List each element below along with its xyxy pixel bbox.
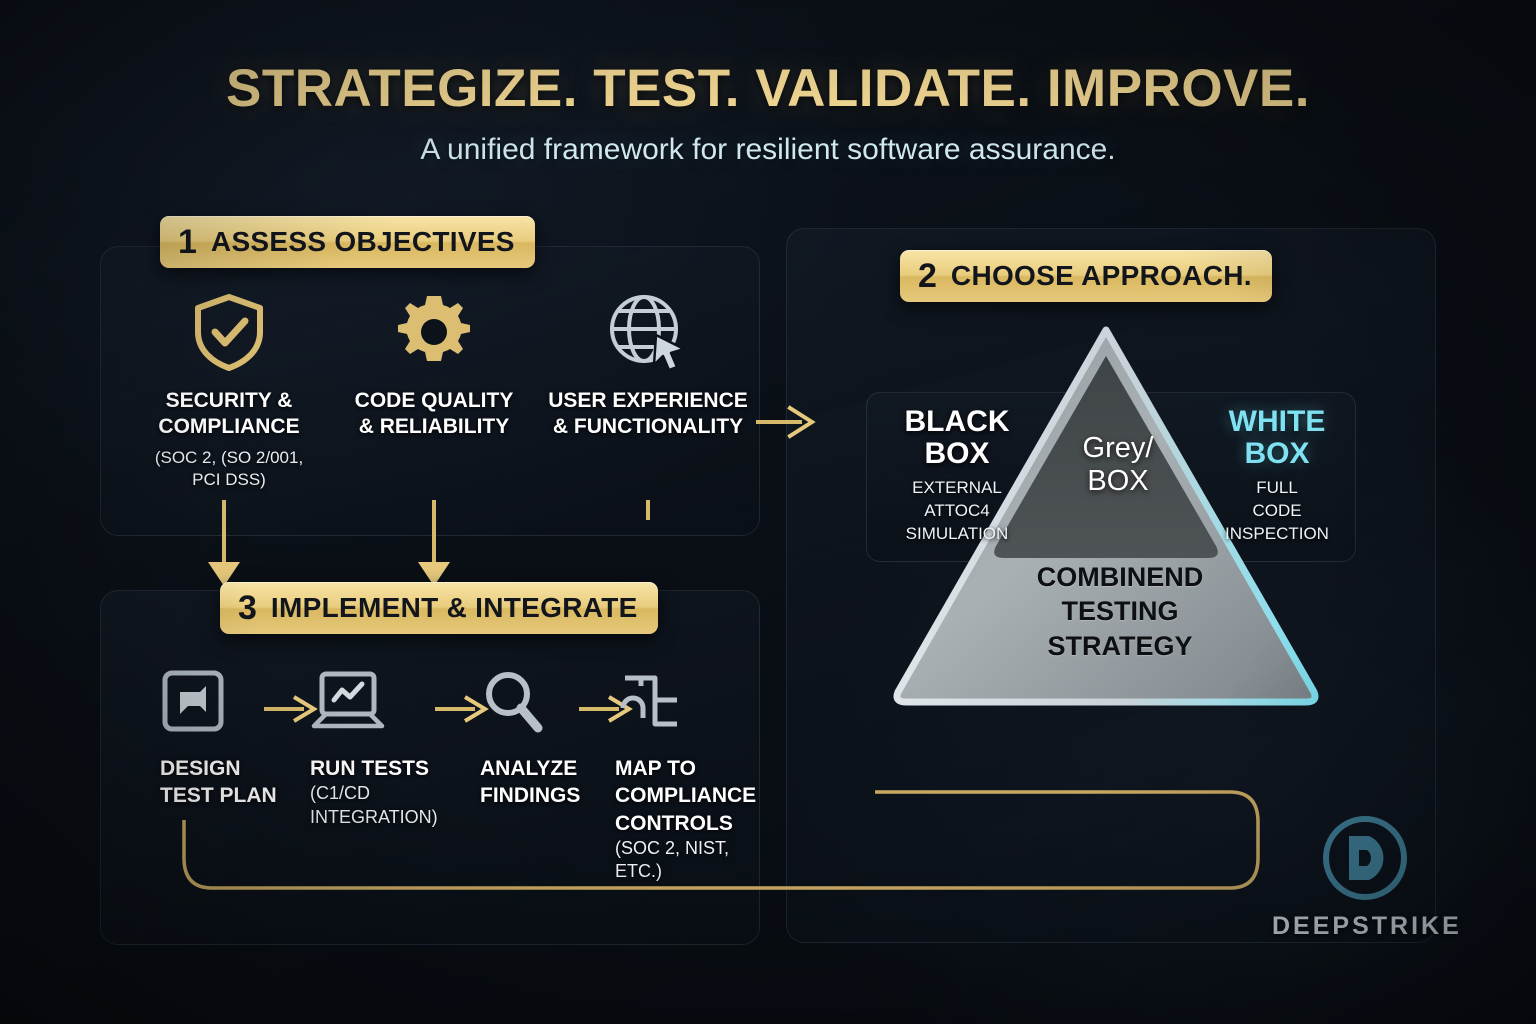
step-badge-implement[interactable]: 3 IMPLEMENT & INTEGRATE — [220, 582, 658, 634]
page-subtitle: A unified framework for resilient softwa… — [0, 133, 1536, 167]
deepstrike-d-icon — [1272, 812, 1457, 904]
magnifier-icon — [480, 665, 580, 737]
objective-name: USER EXPERIENCE& FUNCTIONALITY — [543, 388, 753, 441]
objective-code-quality[interactable]: CODE QUALITY& RELIABILITY — [329, 290, 539, 447]
step-badge-approach[interactable]: 2 CHOOSE APPROACH. — [900, 250, 1272, 302]
flow-step-design-test-plan[interactable]: DESIGNTEST PLAN — [160, 665, 277, 810]
black-box-heading: BLACKBOX — [882, 406, 1032, 471]
flow-step-analyze-findings[interactable]: ANALYZEFINDINGS — [480, 665, 580, 810]
black-box-label: BLACKBOX EXTERNALATTOC4SIMULATION — [882, 406, 1032, 546]
design-plan-icon — [160, 665, 277, 737]
page-title: STRATEGIZE. TEST. VALIDATE. IMPROVE. — [0, 58, 1536, 119]
gear-icon — [329, 290, 539, 374]
objective-security-compliance[interactable]: SECURITY &COMPLIANCE (SOC 2, (SO 2/001,P… — [124, 290, 334, 491]
grey-box-label: Grey/BOX — [1038, 432, 1198, 499]
white-box-heading: WHITEBOX — [1207, 406, 1347, 471]
implement-flow-row: DESIGNTEST PLAN RUN TESTS (C1/CDINTEGRAT… — [140, 665, 760, 755]
flow-step-run-tests[interactable]: RUN TESTS (C1/CDINTEGRATION) — [310, 665, 438, 829]
sitemap-icon — [615, 665, 760, 737]
objective-sub: (SOC 2, (SO 2/001,PCI DSS) — [124, 447, 334, 491]
step-number: 3 — [238, 591, 257, 625]
flow-step-name: RUN TESTS — [310, 755, 438, 782]
step-label: CHOOSE APPROACH. — [951, 260, 1252, 292]
objective-name: CODE QUALITY& RELIABILITY — [329, 388, 539, 441]
step-number: 2 — [918, 259, 937, 293]
shield-check-icon — [124, 290, 334, 374]
white-box-detail: FULLCODEINSPECTION — [1207, 477, 1347, 546]
flow-step-name: DESIGNTEST PLAN — [160, 755, 277, 810]
flow-step-name: ANALYZEFINDINGS — [480, 755, 580, 810]
infographic-canvas: STRATEGIZE. TEST. VALIDATE. IMPROVE. A u… — [0, 0, 1536, 1024]
brand-name: DEEPSTRIKE — [1272, 912, 1457, 941]
combined-strategy-label: COMBINENDTESTINGSTRATEGY — [985, 560, 1255, 663]
brand-logo: DEEPSTRIKE — [1272, 812, 1457, 941]
objective-user-experience[interactable]: USER EXPERIENCE& FUNCTIONALITY — [543, 290, 753, 447]
flow-step-sub: (C1/CDINTEGRATION) — [310, 782, 438, 829]
flow-step-map-to-compliance[interactable]: MAP TOCOMPLIANCECONTROLS (SOC 2, NIST, E… — [615, 665, 760, 884]
flow-step-name: MAP TOCOMPLIANCECONTROLS — [615, 755, 760, 837]
laptop-chart-icon — [310, 665, 438, 737]
step-label: ASSESS OBJECTIVES — [211, 226, 515, 258]
step-number: 1 — [178, 225, 197, 259]
globe-cursor-icon — [543, 290, 753, 374]
black-box-detail: EXTERNALATTOC4SIMULATION — [882, 477, 1032, 546]
step-badge-assess[interactable]: 1 ASSESS OBJECTIVES — [160, 216, 535, 268]
flow-step-sub: (SOC 2, NIST, ETC.) — [615, 837, 760, 884]
step-label: IMPLEMENT & INTEGRATE — [271, 592, 638, 624]
white-box-label: WHITEBOX FULLCODEINSPECTION — [1207, 406, 1347, 546]
objective-name: SECURITY &COMPLIANCE — [124, 388, 334, 441]
